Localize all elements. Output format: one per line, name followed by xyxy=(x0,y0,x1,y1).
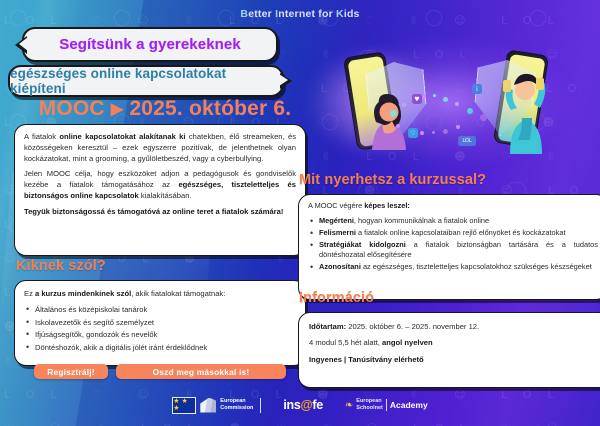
schoolnet-leaf-icon: ❧ xyxy=(345,400,353,411)
brand-word2: nternet for xyxy=(278,8,336,20)
gain-card: A MOOC végére képes leszel: Megérteni, h… xyxy=(298,194,600,300)
ec-divider xyxy=(260,398,261,413)
gain-item-bold: Megérteni xyxy=(319,216,354,225)
mooc-date: 2025. október 6. xyxy=(129,97,291,120)
list-item: Ifjúságsegítők, gondozók és nevelők xyxy=(24,329,296,340)
who-lead-c: , akik fiatalokat támogatnak: xyxy=(131,289,225,298)
register-button[interactable]: Regisztrálj! xyxy=(34,364,108,379)
info-duration-row: Időtartam: 2025. október 6. – 2025. nove… xyxy=(309,321,599,332)
who-card: Ez a kurzus mindenkinek szól, akik fiata… xyxy=(14,280,306,366)
gain-lead-a: A MOOC végére xyxy=(308,201,364,210)
intro-p2-c: kialakításában. xyxy=(139,191,192,200)
brand-k: K xyxy=(336,8,344,20)
info-language: angol nyelven xyxy=(382,338,433,347)
esn-divider xyxy=(386,399,387,411)
gain-item-rest: , hogyan kommunikálnak a fiatalok online xyxy=(354,216,489,225)
poster-canvas: LOL ♡ ☺ ✌ LOL ☻ ♡ ✌ ☺ LOL ♡ ☺ ✌ LOL ☻ ♡ … xyxy=(0,0,600,426)
intro-p1-bold: online kapcsolatokat alakítanak ki xyxy=(59,132,185,141)
brand-word1: etter xyxy=(248,8,275,20)
ec-line-1: European xyxy=(220,398,253,405)
gain-item-bold: Stratégiákat kidolgozni xyxy=(319,240,406,249)
bubble-tail-right-inner xyxy=(279,74,288,86)
at-symbol-icon: @ xyxy=(300,398,312,412)
who-lead-bold: a kurzus mindenkinek szól xyxy=(35,289,131,298)
section-heading-gain: Mit nyerhetsz a kurzussal? xyxy=(299,172,486,188)
gain-item-rest: az egészséges, tiszteletteljes kapcsolat… xyxy=(361,262,592,271)
brand-word3: ids xyxy=(344,8,360,20)
ec-line-2: Commission xyxy=(220,405,253,412)
commission-building-icon xyxy=(200,398,216,413)
connection-dots xyxy=(388,84,504,140)
insafe-part-a: ins xyxy=(283,398,300,412)
mooc-label: MOOC xyxy=(39,97,105,120)
info-card: Időtartam: 2025. október 6. – 2025. nove… xyxy=(298,312,600,388)
esn-line-1: European xyxy=(356,398,383,405)
gain-lead: A MOOC végére képes leszel: xyxy=(308,201,598,211)
like-mini-icon: ♡ xyxy=(408,128,418,138)
eu-flag-icon: ★ ★ ★ xyxy=(172,397,196,414)
list-item: Megérteni, hogyan kommunikálnak a fiatal… xyxy=(308,216,598,226)
footer-logos: ★ ★ ★ European Commission ins@fe ❧ Europ… xyxy=(0,392,600,418)
list-item: Döntéshozók, akik a digitális jólét irán… xyxy=(24,342,296,353)
european-commission-label: European Commission xyxy=(220,398,253,412)
info-price-text: Ingyenes | Tanúsítvány elérhető xyxy=(309,355,424,364)
who-lead: Ez a kurzus mindenkinek szól, akik fiata… xyxy=(24,288,296,299)
list-item: Stratégiákat kidolgozni a fiatalok bizto… xyxy=(308,240,598,261)
list-item: Azonosítani az egészséges, tisztelettelj… xyxy=(308,262,598,272)
section-heading-who: Kiknek szól? xyxy=(16,258,106,274)
gain-item-bold: Azonosítani xyxy=(319,262,361,271)
who-lead-a: Ez xyxy=(24,289,35,298)
boy-avatar xyxy=(496,68,552,154)
gain-item-bold: Felismerni xyxy=(319,228,356,237)
mooc-date-line: MOOC ▶ 2025. október 6. xyxy=(30,97,300,121)
info-duration-label: Időtartam: xyxy=(309,322,346,331)
info-price-row: Ingyenes | Tanúsítvány elérhető xyxy=(309,354,599,365)
headline-primary-text: Segítsünk a gyerekeknek xyxy=(59,36,241,53)
insafe-logo: ins@fe xyxy=(283,398,323,412)
intro-p1-a: A fiatalok xyxy=(24,132,59,141)
european-schoolnet-academy-logo: ❧ European Schoolnet Academy xyxy=(345,398,428,411)
brand-title: Better Internet for Kids xyxy=(0,8,600,20)
play-arrow-icon: ▶ xyxy=(111,101,124,118)
insafe-part-b: fe xyxy=(312,398,323,412)
share-button[interactable]: Oszd meg másokkal is! xyxy=(116,364,286,379)
lol-mini-icon: LOL xyxy=(458,136,476,146)
info-modules-text: 4 modul 5,5 hét alatt, xyxy=(309,338,382,347)
intro-paragraph-1: A fiatalok online kapcsolatokat alakítan… xyxy=(24,132,296,164)
headline-bubble-secondary: egészséges online kapcsolatokat kiépíten… xyxy=(8,65,284,97)
european-commission-logo: ★ ★ ★ European Commission xyxy=(172,397,261,414)
list-item: Iskolavezetők és segítő személyzet xyxy=(24,317,296,328)
headline-secondary-text: egészséges online kapcsolatokat kiépíten… xyxy=(10,66,282,96)
intro-p3-bold: Tegyük biztonságossá és támogatóvá az on… xyxy=(24,207,283,216)
info-mini-icon: i xyxy=(472,84,482,94)
intro-card: A fiatalok online kapcsolatokat alakítan… xyxy=(14,124,306,256)
gain-item-rest: a fiatalok online kapcsolataiban rejlő e… xyxy=(356,228,566,237)
bubble-tail-left-inner xyxy=(19,37,28,51)
intro-paragraph-3: Tegyük biztonságossá és támogatóvá az on… xyxy=(24,207,296,218)
info-modules-row: 4 modul 5,5 hét alatt, angol nyelven xyxy=(309,337,599,348)
academy-label: Academy xyxy=(390,400,428,410)
list-item: Felismerni a fiatalok online kapcsolatai… xyxy=(308,228,598,238)
info-duration-value: 2025. október 6. – 2025. november 12. xyxy=(346,322,479,331)
list-item: Általános és középiskolai tanárok xyxy=(24,304,296,315)
who-list: Általános és középiskolai tanárok Iskola… xyxy=(24,304,296,353)
headline-bubble-primary: Segítsünk a gyerekeknek xyxy=(22,27,278,62)
esn-line-2: Schoolnet xyxy=(356,405,383,412)
schoolnet-label: European Schoolnet xyxy=(356,398,383,411)
hero-illustration: ♥ ♡ i LOL xyxy=(300,32,592,172)
eu-stars: ★ ★ ★ xyxy=(173,398,195,412)
chat-mini-icon: ♥ xyxy=(412,94,422,104)
gain-lead-bold: képes leszel: xyxy=(364,201,410,210)
section-heading-info: Információ xyxy=(299,290,374,306)
gain-list: Megérteni, hogyan kommunikálnak a fiatal… xyxy=(308,216,598,272)
intro-paragraph-2: Jelen MOOC célja, hogy eszközöket adjon … xyxy=(24,169,296,201)
